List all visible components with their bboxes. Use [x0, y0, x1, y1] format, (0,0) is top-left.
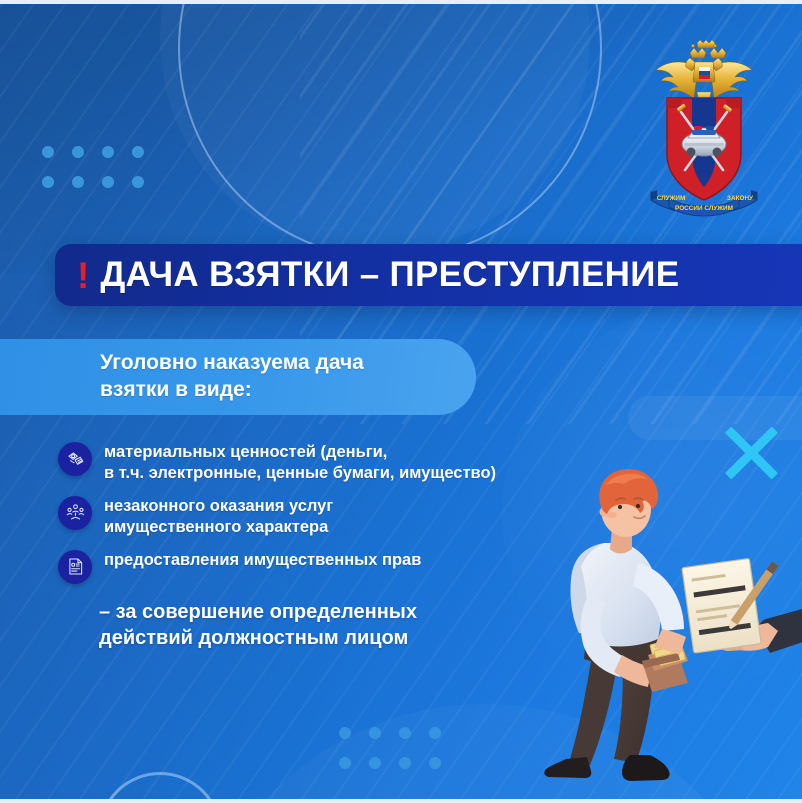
dot	[369, 757, 381, 769]
dot	[399, 727, 411, 739]
mvd-russia-emblem: СЛУЖИМ ЗАКОНУ РОССИИ СЛУЖИМ	[645, 40, 763, 218]
dot	[72, 176, 84, 188]
dot	[132, 176, 144, 188]
subtitle-pill: Уголовно наказуема дача взятки в виде:	[0, 339, 476, 415]
dot	[369, 727, 381, 739]
subtitle-text: Уголовно наказуема дача взятки в виде:	[100, 350, 364, 404]
title-banner: ! ДАЧА ВЗЯТКИ – ПРЕСТУПЛЕНИЕ	[55, 244, 802, 306]
dot	[72, 146, 84, 158]
svg-text:РОССИИ СЛУЖИМ: РОССИИ СЛУЖИМ	[675, 205, 733, 212]
alert-exclamation-icon: !	[77, 257, 89, 294]
dot	[132, 146, 144, 158]
dot	[102, 146, 114, 158]
list-item-label: предоставления имущественных прав	[104, 549, 421, 571]
people-services-icon	[58, 496, 92, 530]
dot	[102, 176, 114, 188]
property-rights-document-icon	[58, 550, 92, 584]
poster-root: СЛУЖИМ ЗАКОНУ РОССИИ СЛУЖИМ ! ДАЧА ВЗЯТК…	[0, 0, 802, 803]
list-item-label: незаконного оказания услуг имущественног…	[104, 495, 333, 538]
svg-text:СЛУЖИМ: СЛУЖИМ	[657, 195, 686, 202]
dot	[42, 146, 54, 158]
bribe-handover-illustration	[530, 459, 802, 803]
money-valuables-icon	[58, 442, 92, 476]
page-title: ДАЧА ВЗЯТКИ – ПРЕСТУПЛЕНИЕ	[100, 255, 679, 295]
dot	[429, 727, 441, 739]
dot	[339, 727, 351, 739]
list-item-label: материальных ценностей (деньги, в т.ч. э…	[104, 441, 496, 484]
dot	[42, 176, 54, 188]
dot	[399, 757, 411, 769]
dot-grid-left	[42, 146, 144, 188]
dot-grid-bottom	[339, 727, 441, 769]
dot	[339, 757, 351, 769]
dot	[429, 757, 441, 769]
svg-text:ЗАКОНУ: ЗАКОНУ	[727, 195, 754, 202]
